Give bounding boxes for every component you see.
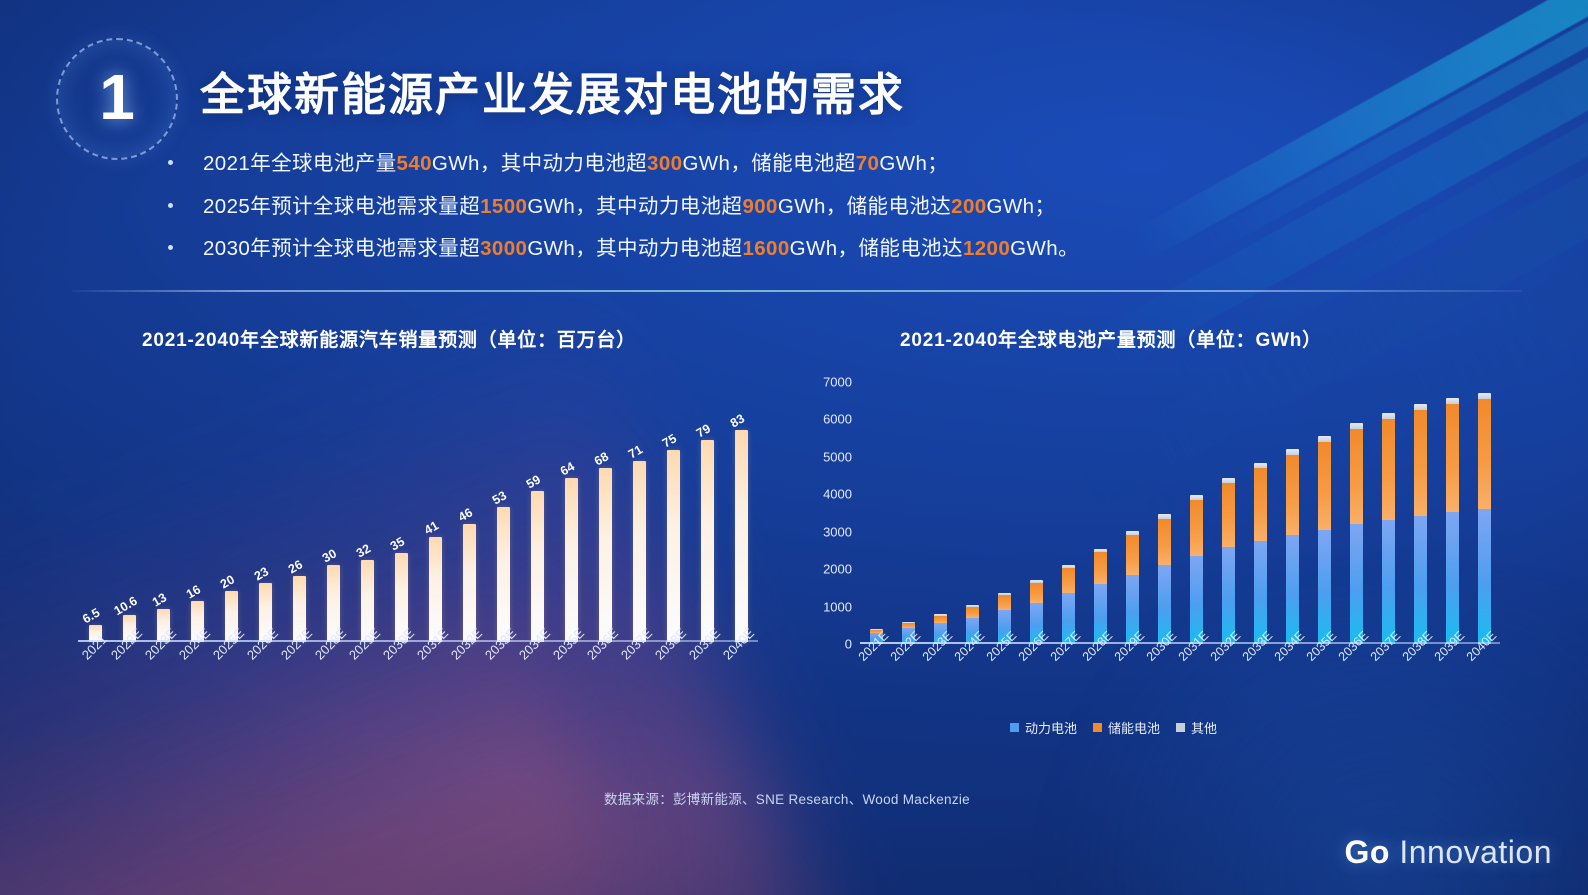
bar[interactable]	[497, 507, 510, 642]
stacked-bar-column[interactable]	[956, 382, 988, 644]
bar-value-label: 53	[490, 488, 509, 507]
y-tick-label: 5000	[823, 449, 852, 464]
chart-battery-output: 01000200030004000500060007000	[800, 382, 1500, 644]
x-tick: 2031E	[418, 648, 452, 718]
y-tick-label: 4000	[823, 487, 852, 502]
legend-swatch-icon	[1010, 723, 1019, 732]
bullet-text: 2030年预计全球电池需求量超3000GWh，其中动力电池超1600GWh，储能…	[203, 237, 1079, 262]
bar-column[interactable]: 46	[452, 392, 486, 642]
segment-power-battery[interactable]	[1446, 512, 1459, 644]
bar-value-label: 20	[218, 572, 237, 591]
segment-power-battery[interactable]	[1414, 516, 1427, 644]
bar-value-label: 41	[422, 519, 441, 538]
bar-column[interactable]: 35	[384, 392, 418, 642]
bullet-highlight-value: 1500	[480, 195, 527, 218]
bar-column[interactable]: 20	[214, 392, 248, 642]
stacked-bar[interactable]	[1158, 514, 1171, 644]
stacked-bar-column[interactable]	[892, 382, 924, 644]
bar-column[interactable]: 6.5	[78, 392, 112, 642]
bullet-item: 2030年预计全球电池需求量超3000GWh，其中动力电池超1600GWh，储能…	[168, 237, 1348, 262]
y-tick-label: 7000	[823, 375, 852, 390]
stacked-bar[interactable]	[1126, 531, 1139, 644]
bar-column[interactable]: 75	[656, 392, 690, 642]
bullet-highlight-value: 1200	[963, 237, 1010, 260]
bullet-highlight-value: 1600	[742, 237, 789, 260]
logo-go: Go	[1345, 834, 1390, 870]
stacked-bar-column[interactable]	[1244, 382, 1276, 644]
segment-energy-storage[interactable]	[1062, 568, 1075, 593]
bar-column[interactable]: 13	[146, 392, 180, 642]
source-note: 数据来源：彭博新能源、SNE Research、Wood Mackenzie	[604, 788, 970, 808]
segment-energy-storage[interactable]	[1158, 519, 1171, 566]
stacked-bar[interactable]	[1350, 423, 1363, 644]
x-tick: 2029E	[350, 648, 384, 718]
bar-column[interactable]: 26	[282, 392, 316, 642]
stacked-bar[interactable]	[1478, 393, 1491, 644]
stacked-bar-column[interactable]	[1340, 382, 1372, 644]
x-tick: 2024E	[956, 650, 988, 720]
bar-value-label: 71	[626, 442, 645, 461]
bar[interactable]	[667, 450, 680, 642]
bullet-text-run: GWh。	[1010, 237, 1079, 260]
x-axis-labels-battery-output: 2021E2022E2023E2024E2025E2026E2027E2028E…	[860, 650, 1500, 720]
stacked-bar[interactable]	[1222, 478, 1235, 644]
bar-column[interactable]: 68	[588, 392, 622, 642]
stacked-bar-column[interactable]	[1436, 382, 1468, 644]
x-tick: 2025E	[988, 650, 1020, 720]
stacked-bar-column[interactable]	[1308, 382, 1340, 644]
x-axis-line-ev-sales	[78, 640, 758, 642]
segment-power-battery[interactable]	[1318, 530, 1331, 644]
stacked-bar[interactable]	[1318, 436, 1331, 644]
segment-energy-storage[interactable]	[1190, 500, 1203, 556]
x-tick: 2037E	[622, 648, 656, 718]
legend-swatch-icon	[1093, 723, 1102, 732]
bullet-highlight-value: 70	[856, 152, 880, 175]
x-tick: 2034E	[1276, 650, 1308, 720]
x-tick: 2027E	[282, 648, 316, 718]
bar-column[interactable]: 53	[486, 392, 520, 642]
x-tick: 2026E	[248, 648, 282, 718]
x-tick: 2039E	[1436, 650, 1468, 720]
logo-innovation: Innovation	[1399, 834, 1552, 870]
x-tick: 2021	[78, 648, 112, 718]
bar-column[interactable]: 83	[724, 392, 758, 642]
bullet-text-run: 2030年预计全球电池需求量超	[203, 237, 480, 260]
segment-power-battery[interactable]	[1350, 524, 1363, 644]
bar-value-label: 59	[524, 473, 543, 492]
bar-column[interactable]: 71	[622, 392, 656, 642]
stacked-bar-column[interactable]	[1052, 382, 1084, 644]
x-tick: 2031E	[1180, 650, 1212, 720]
x-tick: 2026E	[1020, 650, 1052, 720]
segment-energy-storage[interactable]	[1094, 552, 1107, 584]
bar-value-label: 83	[728, 411, 747, 430]
legend-label: 其他	[1191, 718, 1217, 737]
bullet-text-run: GWh；	[987, 195, 1056, 218]
stacked-bar-column[interactable]	[1468, 382, 1500, 644]
segment-energy-storage[interactable]	[934, 616, 947, 623]
bullet-highlight-value: 540	[397, 152, 432, 175]
segment-power-battery[interactable]	[1478, 509, 1491, 644]
stacked-bar[interactable]	[1190, 495, 1203, 644]
x-tick: 2023E	[924, 650, 956, 720]
segment-energy-storage[interactable]	[1222, 483, 1235, 547]
section-number-badge: 1	[56, 38, 178, 160]
bullet-highlight-value: 300	[647, 152, 682, 175]
bullet-text-run: 2021年全球电池产量	[203, 152, 397, 175]
x-tick: 2040E	[724, 648, 758, 718]
chart-panel-ev-sales: 2021-2040年全球新能源汽车销量预测（单位：百万台）	[142, 325, 782, 352]
y-tick-label: 0	[845, 637, 852, 652]
brand-logo: Go Innovation	[1345, 834, 1553, 871]
bar-value-label: 32	[354, 542, 373, 561]
segment-energy-storage[interactable]	[966, 607, 979, 617]
bar-column[interactable]: 59	[520, 392, 554, 642]
y-tick-label: 3000	[823, 524, 852, 539]
bar[interactable]	[565, 478, 578, 642]
bar[interactable]	[633, 461, 646, 642]
segment-energy-storage[interactable]	[1126, 535, 1139, 574]
x-tick: 2027E	[1052, 650, 1084, 720]
legend-label: 储能电池	[1108, 718, 1160, 737]
stacked-bar-column[interactable]	[988, 382, 1020, 644]
x-tick: 2040E	[1468, 650, 1500, 720]
x-tick: 2033E	[1244, 650, 1276, 720]
y-tick-label: 2000	[823, 562, 852, 577]
bullet-text: 2021年全球电池产量540GWh，其中动力电池超300GWh，储能电池超70G…	[203, 152, 948, 177]
x-tick: 2023E	[146, 648, 180, 718]
stacked-bar[interactable]	[1254, 463, 1267, 644]
bullet-list: 2021年全球电池产量540GWh，其中动力电池超300GWh，储能电池超70G…	[168, 152, 1348, 280]
stacked-bar-column[interactable]	[1372, 382, 1404, 644]
y-tick-label: 6000	[823, 412, 852, 427]
chart-ev-sales: 6.510.6131620232630323541465359646871757…	[78, 372, 758, 642]
bar-value-label: 75	[660, 432, 679, 451]
x-tick: 2028E	[1084, 650, 1116, 720]
bar-value-label: 64	[558, 460, 577, 479]
x-tick: 2037E	[1372, 650, 1404, 720]
stacked-bar-column[interactable]	[1276, 382, 1308, 644]
x-tick: 2035E	[554, 648, 588, 718]
bullet-text-run: GWh，储能电池达	[778, 195, 951, 218]
segment-energy-storage[interactable]	[1414, 410, 1427, 516]
bullet-highlight-value: 900	[742, 195, 777, 218]
section-divider	[72, 290, 1522, 292]
chart-legend-battery-output: 动力电池储能电池其他	[1010, 718, 1217, 737]
x-tick: 2022E	[112, 648, 146, 718]
bar-column[interactable]: 16	[180, 392, 214, 642]
bar[interactable]	[735, 430, 748, 642]
x-tick: 2022E	[892, 650, 924, 720]
bar-column[interactable]: 32	[350, 392, 384, 642]
bar-value-label: 26	[286, 557, 305, 576]
x-tick: 2036E	[588, 648, 622, 718]
legend-swatch-icon	[1176, 723, 1185, 732]
segment-energy-storage[interactable]	[1318, 442, 1331, 530]
x-tick: 2033E	[486, 648, 520, 718]
segment-energy-storage[interactable]	[998, 595, 1011, 610]
segment-energy-storage[interactable]	[1446, 404, 1459, 513]
stacked-bar-column[interactable]	[924, 382, 956, 644]
chart-plot-area-ev-sales: 6.510.6131620232630323541465359646871757…	[78, 392, 758, 642]
bar[interactable]	[463, 524, 476, 642]
bullet-text-run: GWh，其中动力电池超	[527, 237, 742, 260]
bar-column[interactable]: 10.6	[112, 392, 146, 642]
legend-item[interactable]: 储能电池	[1093, 718, 1160, 737]
segment-energy-storage[interactable]	[1478, 399, 1491, 509]
chart-plot-area-battery-output	[860, 382, 1500, 644]
x-tick: 2025E	[214, 648, 248, 718]
bar[interactable]	[599, 468, 612, 642]
bullet-highlight-value: 200	[951, 195, 986, 218]
x-tick: 2030E	[384, 648, 418, 718]
bar-column[interactable]: 64	[554, 392, 588, 642]
bullet-text: 2025年预计全球电池需求量超1500GWh，其中动力电池超900GWh，储能电…	[203, 195, 1055, 220]
chart-title-battery-output: 2021-2040年全球电池产量预测（单位：GWh）	[900, 325, 1520, 352]
segment-energy-storage[interactable]	[1382, 419, 1395, 520]
stacked-bar-column[interactable]	[1212, 382, 1244, 644]
chart-title-ev-sales: 2021-2040年全球新能源汽车销量预测（单位：百万台）	[142, 325, 782, 352]
page-title: 全球新能源产业发展对电池的需求	[200, 58, 905, 123]
legend-label: 动力电池	[1025, 718, 1077, 737]
x-tick: 2036E	[1340, 650, 1372, 720]
bullet-highlight-value: 3000	[480, 237, 527, 260]
bar-value-label: 79	[694, 422, 713, 441]
chart-panel-battery-output: 2021-2040年全球电池产量预测（单位：GWh）	[900, 325, 1520, 352]
x-tick: 2028E	[316, 648, 350, 718]
legend-item[interactable]: 动力电池	[1010, 718, 1077, 737]
bar-value-label: 46	[456, 506, 475, 525]
bullet-dot-icon	[168, 203, 173, 208]
bar-value-label: 16	[184, 583, 203, 602]
bullet-text-run: GWh，储能电池达	[790, 237, 963, 260]
x-tick: 2035E	[1308, 650, 1340, 720]
stacked-bar-column[interactable]	[1116, 382, 1148, 644]
x-axis-line-battery-output	[860, 642, 1500, 644]
x-tick: 2038E	[1404, 650, 1436, 720]
bar-value-label: 6.5	[80, 606, 102, 627]
bullet-item: 2021年全球电池产量540GWh，其中动力电池超300GWh，储能电池超70G…	[168, 152, 1348, 177]
x-tick: 2024E	[180, 648, 214, 718]
x-tick: 2032E	[1212, 650, 1244, 720]
bullet-text-run: GWh，储能电池超	[682, 152, 855, 175]
section-number: 1	[99, 65, 135, 129]
bullet-text-run: GWh，其中动力电池超	[527, 195, 742, 218]
bullet-dot-icon	[168, 245, 173, 250]
stacked-bar[interactable]	[1286, 449, 1299, 644]
segment-energy-storage[interactable]	[1286, 455, 1299, 535]
bar-value-label: 23	[252, 565, 271, 584]
bar-column[interactable]: 23	[248, 392, 282, 642]
bar-value-label: 30	[320, 547, 339, 566]
stacked-bar[interactable]	[1414, 404, 1427, 644]
bar-column[interactable]: 41	[418, 392, 452, 642]
x-tick: 2021E	[860, 650, 892, 720]
bar-column[interactable]: 79	[690, 392, 724, 642]
x-tick: 2030E	[1148, 650, 1180, 720]
segment-energy-storage[interactable]	[1254, 468, 1267, 541]
x-tick: 2039E	[690, 648, 724, 718]
x-tick: 2032E	[452, 648, 486, 718]
stacked-bar-column[interactable]	[860, 382, 892, 644]
bar-column[interactable]: 30	[316, 392, 350, 642]
segment-energy-storage[interactable]	[1030, 583, 1043, 602]
bullet-dot-icon	[168, 160, 173, 165]
bullet-text-run: GWh，其中动力电池超	[432, 152, 647, 175]
stacked-bar[interactable]	[1382, 413, 1395, 644]
bar-value-label: 13	[150, 590, 169, 609]
x-tick: 2034E	[520, 648, 554, 718]
bullet-text-run: 2025年预计全球电池需求量超	[203, 195, 480, 218]
bullet-item: 2025年预计全球电池需求量超1500GWh，其中动力电池超900GWh，储能电…	[168, 195, 1348, 220]
y-tick-label: 1000	[823, 599, 852, 614]
bullet-text-run: GWh；	[879, 152, 948, 175]
segment-energy-storage[interactable]	[1350, 429, 1363, 524]
stacked-bar-column[interactable]	[1084, 382, 1116, 644]
bar-value-label: 35	[388, 534, 407, 553]
stacked-bar-column[interactable]	[1148, 382, 1180, 644]
segment-power-battery[interactable]	[1382, 520, 1395, 644]
bar[interactable]	[531, 491, 544, 642]
bar[interactable]	[701, 440, 714, 642]
stacked-bar[interactable]	[1446, 398, 1459, 644]
x-tick: 2038E	[656, 648, 690, 718]
x-tick: 2029E	[1116, 650, 1148, 720]
legend-item[interactable]: 其他	[1176, 718, 1217, 737]
x-axis-labels-ev-sales: 20212022E2023E2024E2025E2026E2027E2028E2…	[78, 648, 758, 718]
bar-value-label: 68	[592, 450, 611, 469]
stacked-bar-column[interactable]	[1404, 382, 1436, 644]
stacked-bar-column[interactable]	[1020, 382, 1052, 644]
stacked-bar-column[interactable]	[1180, 382, 1212, 644]
